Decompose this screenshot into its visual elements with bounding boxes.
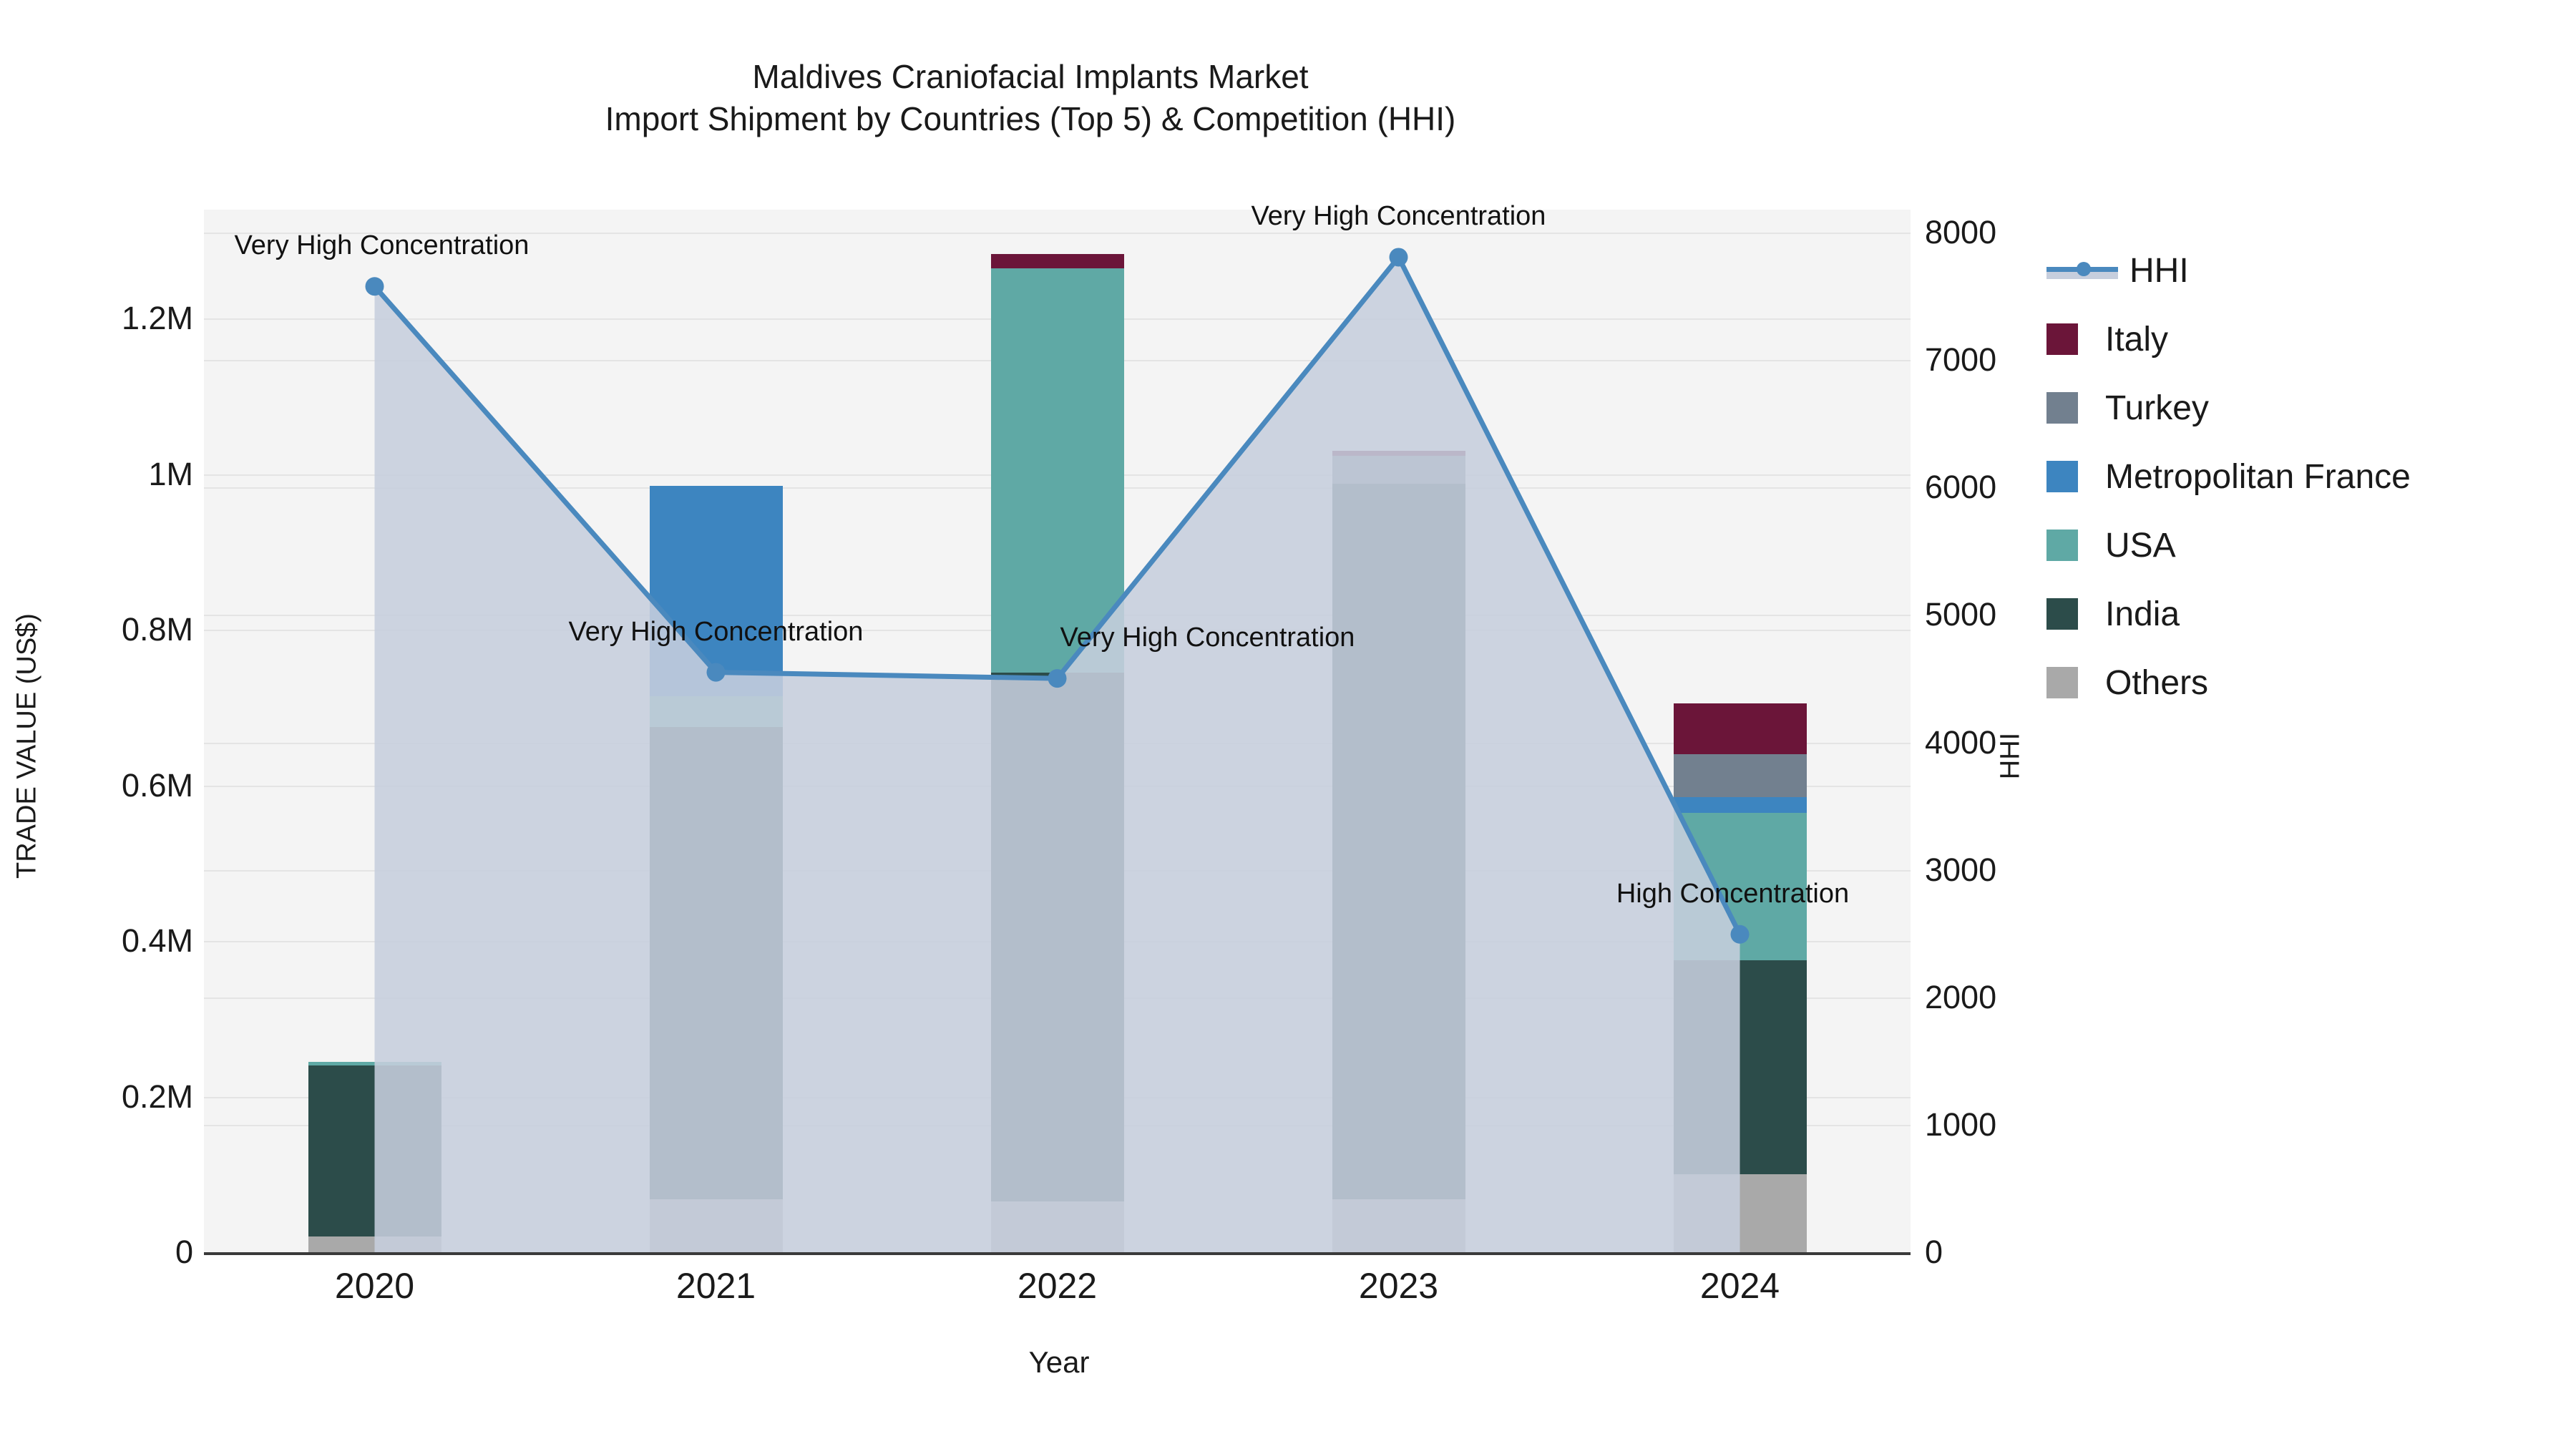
- legend-swatch-icon: [2046, 530, 2078, 561]
- legend-swatch-icon: [2046, 392, 2078, 424]
- hhi-line-icon: [2046, 255, 2118, 286]
- chart-figure: Maldives Craniofacial Implants Market Im…: [0, 0, 2576, 1449]
- concentration-annotation: Very High Concentration: [1060, 623, 1355, 653]
- legend-item-label: USA: [2105, 526, 2176, 565]
- legend-item-label: Metropolitan France: [2105, 457, 2411, 497]
- legend-item[interactable]: HHI: [2046, 236, 2411, 305]
- legend-item[interactable]: Turkey: [2046, 374, 2411, 442]
- chart-legend: HHIItalyTurkeyMetropolitan FranceUSAIndi…: [2046, 236, 2411, 717]
- concentration-annotation: Very High Concentration: [235, 230, 530, 261]
- legend-item[interactable]: USA: [2046, 511, 2411, 580]
- legend-item[interactable]: Metropolitan France: [2046, 442, 2411, 511]
- legend-item-label: HHI: [2129, 251, 2189, 291]
- legend-item[interactable]: India: [2046, 580, 2411, 648]
- legend-item-label: India: [2105, 595, 2180, 634]
- legend-item-label: Italy: [2105, 320, 2168, 359]
- legend-item[interactable]: Others: [2046, 648, 2411, 717]
- legend-item-label: Turkey: [2105, 389, 2209, 428]
- concentration-annotation: High Concentration: [1616, 879, 1849, 909]
- legend-swatch-icon: [2046, 461, 2078, 492]
- legend-swatch-icon: [2046, 323, 2078, 355]
- annotation-layer: Very High ConcentrationVery High Concent…: [0, 0, 2576, 1449]
- legend-item[interactable]: Italy: [2046, 305, 2411, 374]
- legend-swatch-icon: [2046, 598, 2078, 630]
- legend-item-label: Others: [2105, 663, 2208, 703]
- legend-swatch-icon: [2046, 667, 2078, 698]
- concentration-annotation: Very High Concentration: [569, 617, 864, 648]
- concentration-annotation: Very High Concentration: [1252, 201, 1546, 232]
